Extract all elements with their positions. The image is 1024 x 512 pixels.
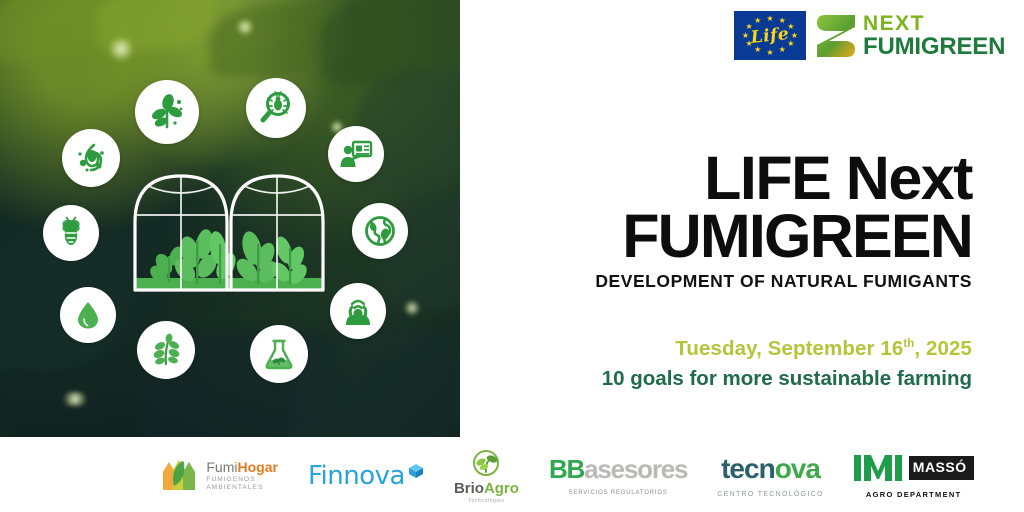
presenter-board-icon	[328, 126, 384, 182]
partner-logo-finnova: Finnova	[308, 461, 424, 491]
event-date-main: Tuesday, September 16	[675, 337, 903, 360]
event-date-ordinal: th	[903, 338, 914, 350]
greenhouse-illustration	[118, 160, 340, 305]
next-fumigreen-logo: NEXT FUMIGREEN	[815, 13, 1005, 59]
light-spark	[236, 18, 254, 36]
bug-magnifier-icon	[246, 78, 306, 138]
partner-logo-masso: MASSÓ AGRO DEPARTMENT	[854, 454, 974, 499]
finnova-cube-icon	[408, 463, 424, 479]
fumihogar-logo-mark	[160, 458, 200, 494]
light-spark	[60, 392, 90, 406]
masso-m-mark	[854, 455, 910, 481]
event-tagline: 10 goals for more sustainable farming	[480, 367, 972, 391]
foliage-blur	[0, 0, 100, 62]
fumigreen-wordmark: FUMIGREEN	[863, 35, 1005, 59]
hero-title-line2: FUMIGREEN	[480, 208, 972, 266]
fumigreen-s-mark	[815, 13, 857, 59]
fumihogar-wordmark: FumiHogar	[206, 460, 278, 475]
light-spark	[108, 36, 134, 62]
plant-branch-icon	[137, 321, 195, 379]
hero-title-line1: LIFE Next	[480, 150, 972, 208]
partner-logo-fumihogar: FumiHogar FUMIGENOS AMBIENTALES	[160, 458, 278, 494]
event-info-block: Tuesday, September 16th, 2025 10 goals f…	[480, 337, 972, 391]
bee-icon	[43, 205, 99, 261]
partner-logo-tecnova: tecnova CENTRO TECNOLÓGICO	[717, 455, 824, 498]
masso-tagline: AGRO DEPARTMENT	[866, 490, 962, 499]
partner-logo-bbasesores: BBasesores SERVICIOS REGULATORIOS	[549, 456, 687, 496]
eu-life-flag-icon: ★ ★ ★ ★ ★ ★ ★ ★ ★ ★ ★ ★ Life	[734, 11, 806, 60]
event-date: Tuesday, September 16th, 2025	[480, 337, 972, 361]
wifi-sensor-icon	[330, 283, 386, 339]
fumihogar-tagline-1: FUMIGENOS	[206, 477, 278, 484]
tecnova-tagline: CENTRO TECNOLÓGICO	[717, 491, 824, 498]
partner-logo-strip: FumiHogar FUMIGENOS AMBIENTALES Finnova …	[0, 440, 1024, 512]
light-spark	[404, 300, 420, 316]
masso-wordmark: MASSÓ	[909, 456, 974, 480]
event-date-year: , 2025	[914, 337, 972, 360]
header-logos: ★ ★ ★ ★ ★ ★ ★ ★ ★ ★ ★ ★ Life NEXT FUMIGR…	[734, 11, 1005, 60]
flask-plant-icon	[250, 325, 308, 383]
vapor-droplets-icon	[62, 129, 120, 187]
water-drop-icon	[60, 287, 116, 343]
hero-subtitle: DEVELOPMENT OF NATURAL FUMIGANTS	[480, 271, 972, 292]
bbasesores-tagline: SERVICIOS REGULATORIOS	[569, 490, 668, 496]
tecnova-wordmark: tecnova	[721, 455, 820, 483]
brioagro-tagline: Technologies	[468, 498, 504, 504]
masso-logo-top: MASSÓ	[854, 454, 974, 482]
partner-logo-brioagro: BrioAgro Technologies	[454, 449, 519, 504]
next-wordmark: NEXT	[863, 13, 1005, 34]
sprout-leaf-icon	[135, 80, 199, 144]
fumihogar-tagline-2: AMBIENTALES	[206, 485, 278, 492]
globe-icon	[352, 203, 408, 259]
hero-title-block: LIFE Next FUMIGREEN DEVELOPMENT OF NATUR…	[480, 150, 972, 292]
hero-photo-panel	[0, 0, 460, 437]
finnova-wordmark: Finnova	[308, 461, 405, 491]
brioagro-wordmark: BrioAgro	[454, 480, 519, 497]
brioagro-leaf-mark	[470, 449, 502, 479]
bbasesores-wordmark: BBasesores	[549, 456, 687, 482]
